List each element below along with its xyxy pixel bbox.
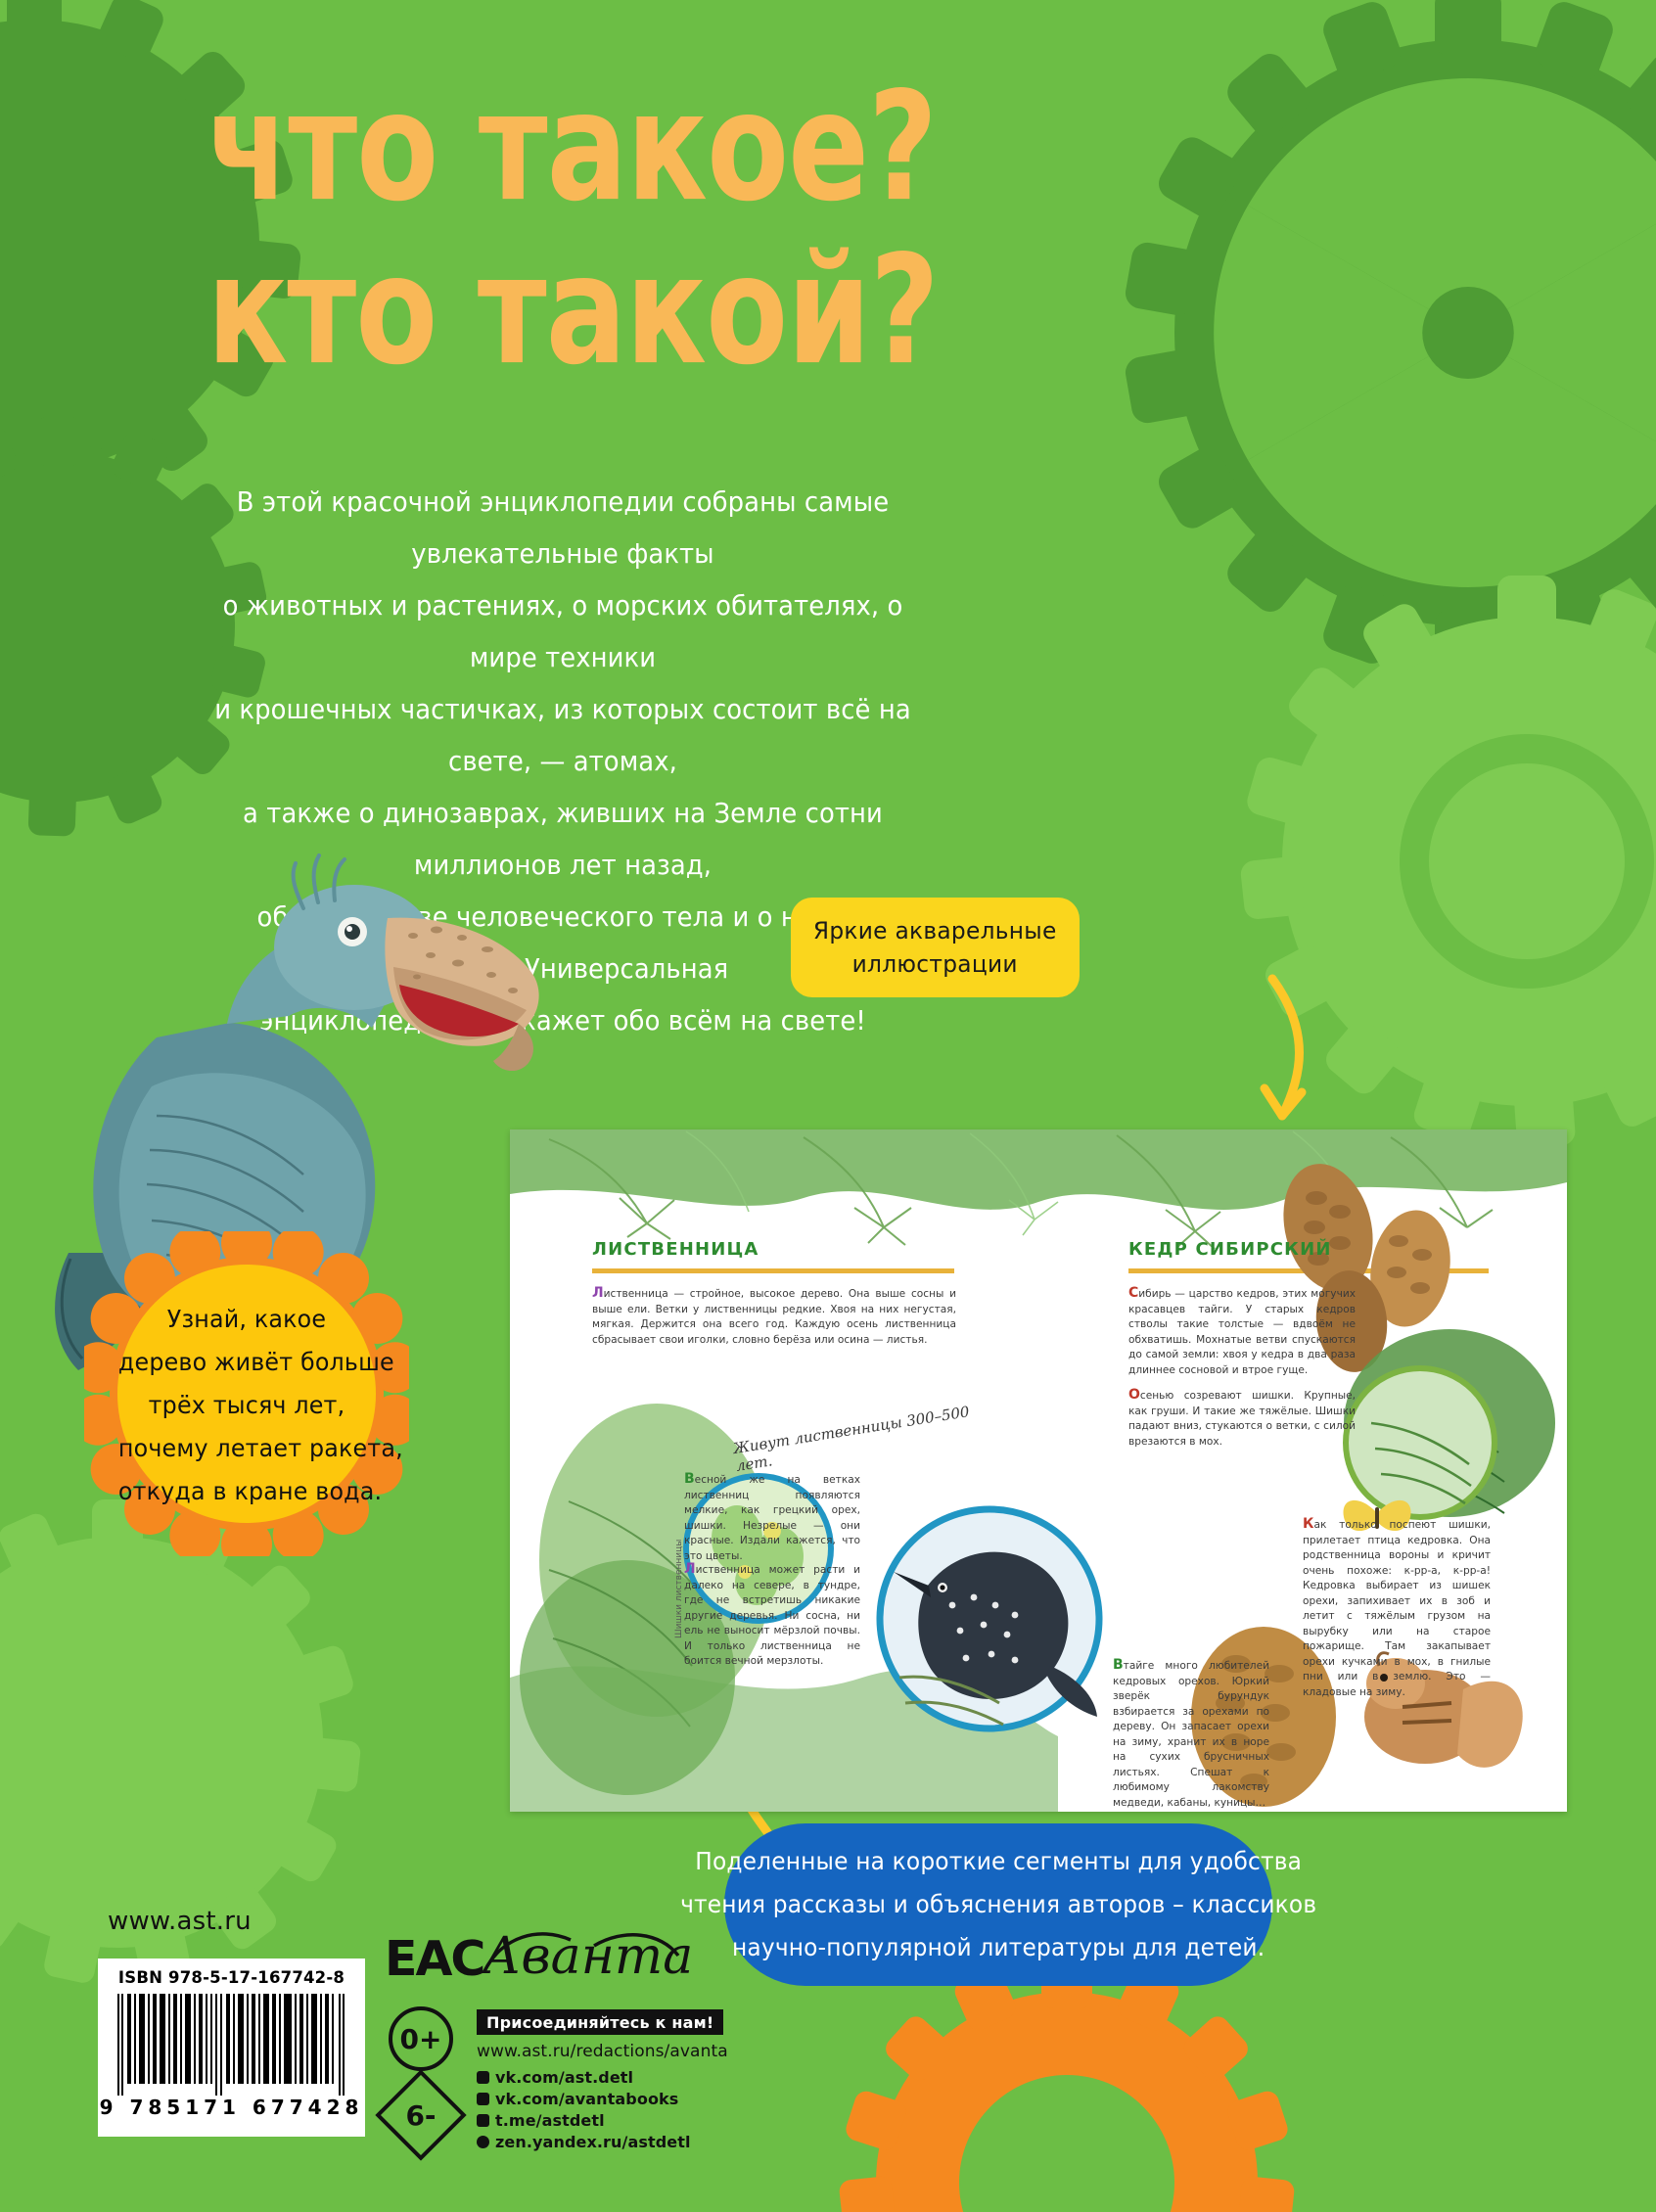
title-line-1: Что такое? — [207, 73, 928, 221]
eac-conformity-mark: EAC — [385, 1931, 483, 1987]
spread-left-paragraph-1: Лиственница — стройное, высокое дерево. … — [592, 1286, 956, 1348]
drop-cap: О — [1128, 1387, 1140, 1403]
redaction-url[interactable]: www.ast.ru/redactions/avanta — [477, 2042, 728, 2061]
drop-cap: В — [1113, 1657, 1124, 1673]
drop-cap: Л — [684, 1561, 696, 1577]
callout-blue-line-1: Поделенные на короткие сегменты для удоб… — [680, 1840, 1316, 1883]
title-line-2: Кто такой? — [207, 237, 928, 385]
gear-badge-line-5: откуда в кране вода. — [118, 1470, 375, 1513]
gear-badge-text: Узнай, какое дерево живёт больше трёх ты… — [112, 1298, 382, 1513]
callout-yellow-line-1: Яркие акварельные — [813, 914, 1057, 947]
spread-left-paragraph-3: Лиственница может расти и далеко на севе… — [684, 1562, 860, 1670]
age-rating-6-label: 6- — [392, 2087, 449, 2143]
book-spread-preview: ЛИСТВЕННИЦА Лиственница — стройное, высо… — [510, 1129, 1567, 1812]
avanta-imprint-logo: Аванта — [477, 1916, 692, 1995]
social-link-label: t.me/astdetl — [495, 2111, 605, 2130]
circle-photo-nutcracker-bird — [880, 1509, 1099, 1728]
social-link-label: vk.com/avantabooks — [495, 2090, 678, 2108]
gear-badge-line-1: Узнай, какое — [118, 1298, 375, 1341]
vk-icon — [477, 2071, 489, 2084]
publisher-website-url[interactable]: www.ast.ru — [108, 1907, 252, 1936]
lead-line: В этой красочной энциклопедии собраны са… — [195, 477, 931, 580]
vk-icon — [477, 2093, 489, 2105]
drop-cap: С — [1128, 1285, 1138, 1301]
callout-blue-line-3: научно-популярной литературы для детей. — [680, 1926, 1316, 1969]
callout-short-segments: Поделенные на короткие сегменты для удоб… — [724, 1823, 1272, 1986]
isbn-number: ISBN 978-5-17-167742-8 — [98, 1968, 365, 1987]
drop-cap: Л — [592, 1285, 604, 1301]
spread-right-paragraph-3: Как только поспеют шишки, прилетает птиц… — [1303, 1517, 1491, 1700]
spread-right-paragraph-1: Сибирь — царство кедров, этих могучих кр… — [1128, 1286, 1356, 1378]
social-link-label: zen.yandex.ru/astdetl — [495, 2133, 691, 2151]
page-title: Что такое? Кто такой? — [196, 73, 940, 401]
gear-badge-line-4: почему летает ракета, — [118, 1427, 375, 1470]
age-rating-0plus: 0+ — [389, 2006, 453, 2071]
barcode-bars — [117, 1994, 345, 2096]
circle-photo-cedar-needles — [1346, 1368, 1495, 1517]
social-link-zen-astdetl[interactable]: zen.yandex.ru/astdetl — [477, 2131, 691, 2152]
spread-heading-right: КЕДР СИБИРСКИЙ — [1128, 1239, 1332, 1260]
callout-yellow-line-2: иллюстрации — [813, 947, 1057, 981]
callout-bright-illustrations: Яркие акварельные иллюстрации — [791, 898, 1080, 997]
zen-icon — [477, 2136, 489, 2148]
join-us-banner: Присоединяйтесь к нам! — [477, 2009, 723, 2035]
spread-left-paragraph-2: Весной же на ветках лиственниц появляютс… — [684, 1472, 860, 1564]
spread-left-vertical-caption: Шишки лиственницы — [674, 1540, 684, 1638]
callout-blue-line-2: чтения рассказы и объяснения авторов – к… — [680, 1883, 1316, 1926]
avanta-logo-text: Аванта — [479, 1927, 692, 1986]
drop-cap: К — [1303, 1516, 1313, 1532]
book-spread-page: ЛИСТВЕННИЦА Лиственница — стройное, высо… — [510, 1129, 1567, 1812]
gear-badge-callout: Узнай, какое дерево живёт больше трёх ты… — [84, 1231, 409, 1556]
spread-artwork — [510, 1129, 1567, 1812]
social-link-vk-astdetl[interactable]: vk.com/ast.detl — [477, 2066, 691, 2088]
spread-right-paragraph-2: Осенью созревают шишки. Крупные, как гру… — [1128, 1388, 1356, 1450]
social-link-vk-avantabooks[interactable]: vk.com/avantabooks — [477, 2088, 691, 2109]
gear-badge-line-3: трёх тысяч лет, — [118, 1384, 375, 1427]
social-link-telegram-astdetl[interactable]: t.me/astdetl — [477, 2109, 691, 2131]
barcode-digits: 9 785171 677428 — [98, 2096, 365, 2119]
book-back-cover: Что такое? Кто такой? В этой красочной э… — [0, 0, 1656, 2212]
gear-badge-line-2: дерево живёт больше — [118, 1341, 375, 1384]
lead-line: о животных и растениях, о морских обитат… — [195, 580, 931, 684]
isbn-barcode: ISBN 978-5-17-167742-8 — [98, 1959, 365, 2137]
social-links-list: vk.com/ast.detl vk.com/avantabooks t.me/… — [477, 2066, 691, 2152]
spread-right-paragraph-4: Втайге много любителей кедровых орехов. … — [1113, 1658, 1269, 1811]
drop-cap: В — [684, 1471, 695, 1487]
social-link-label: vk.com/ast.detl — [495, 2068, 633, 2087]
telegram-icon — [477, 2114, 489, 2127]
spread-heading-left: ЛИСТВЕННИЦА — [592, 1239, 759, 1260]
lead-line: и крошечных частичках, из которых состои… — [195, 684, 931, 788]
